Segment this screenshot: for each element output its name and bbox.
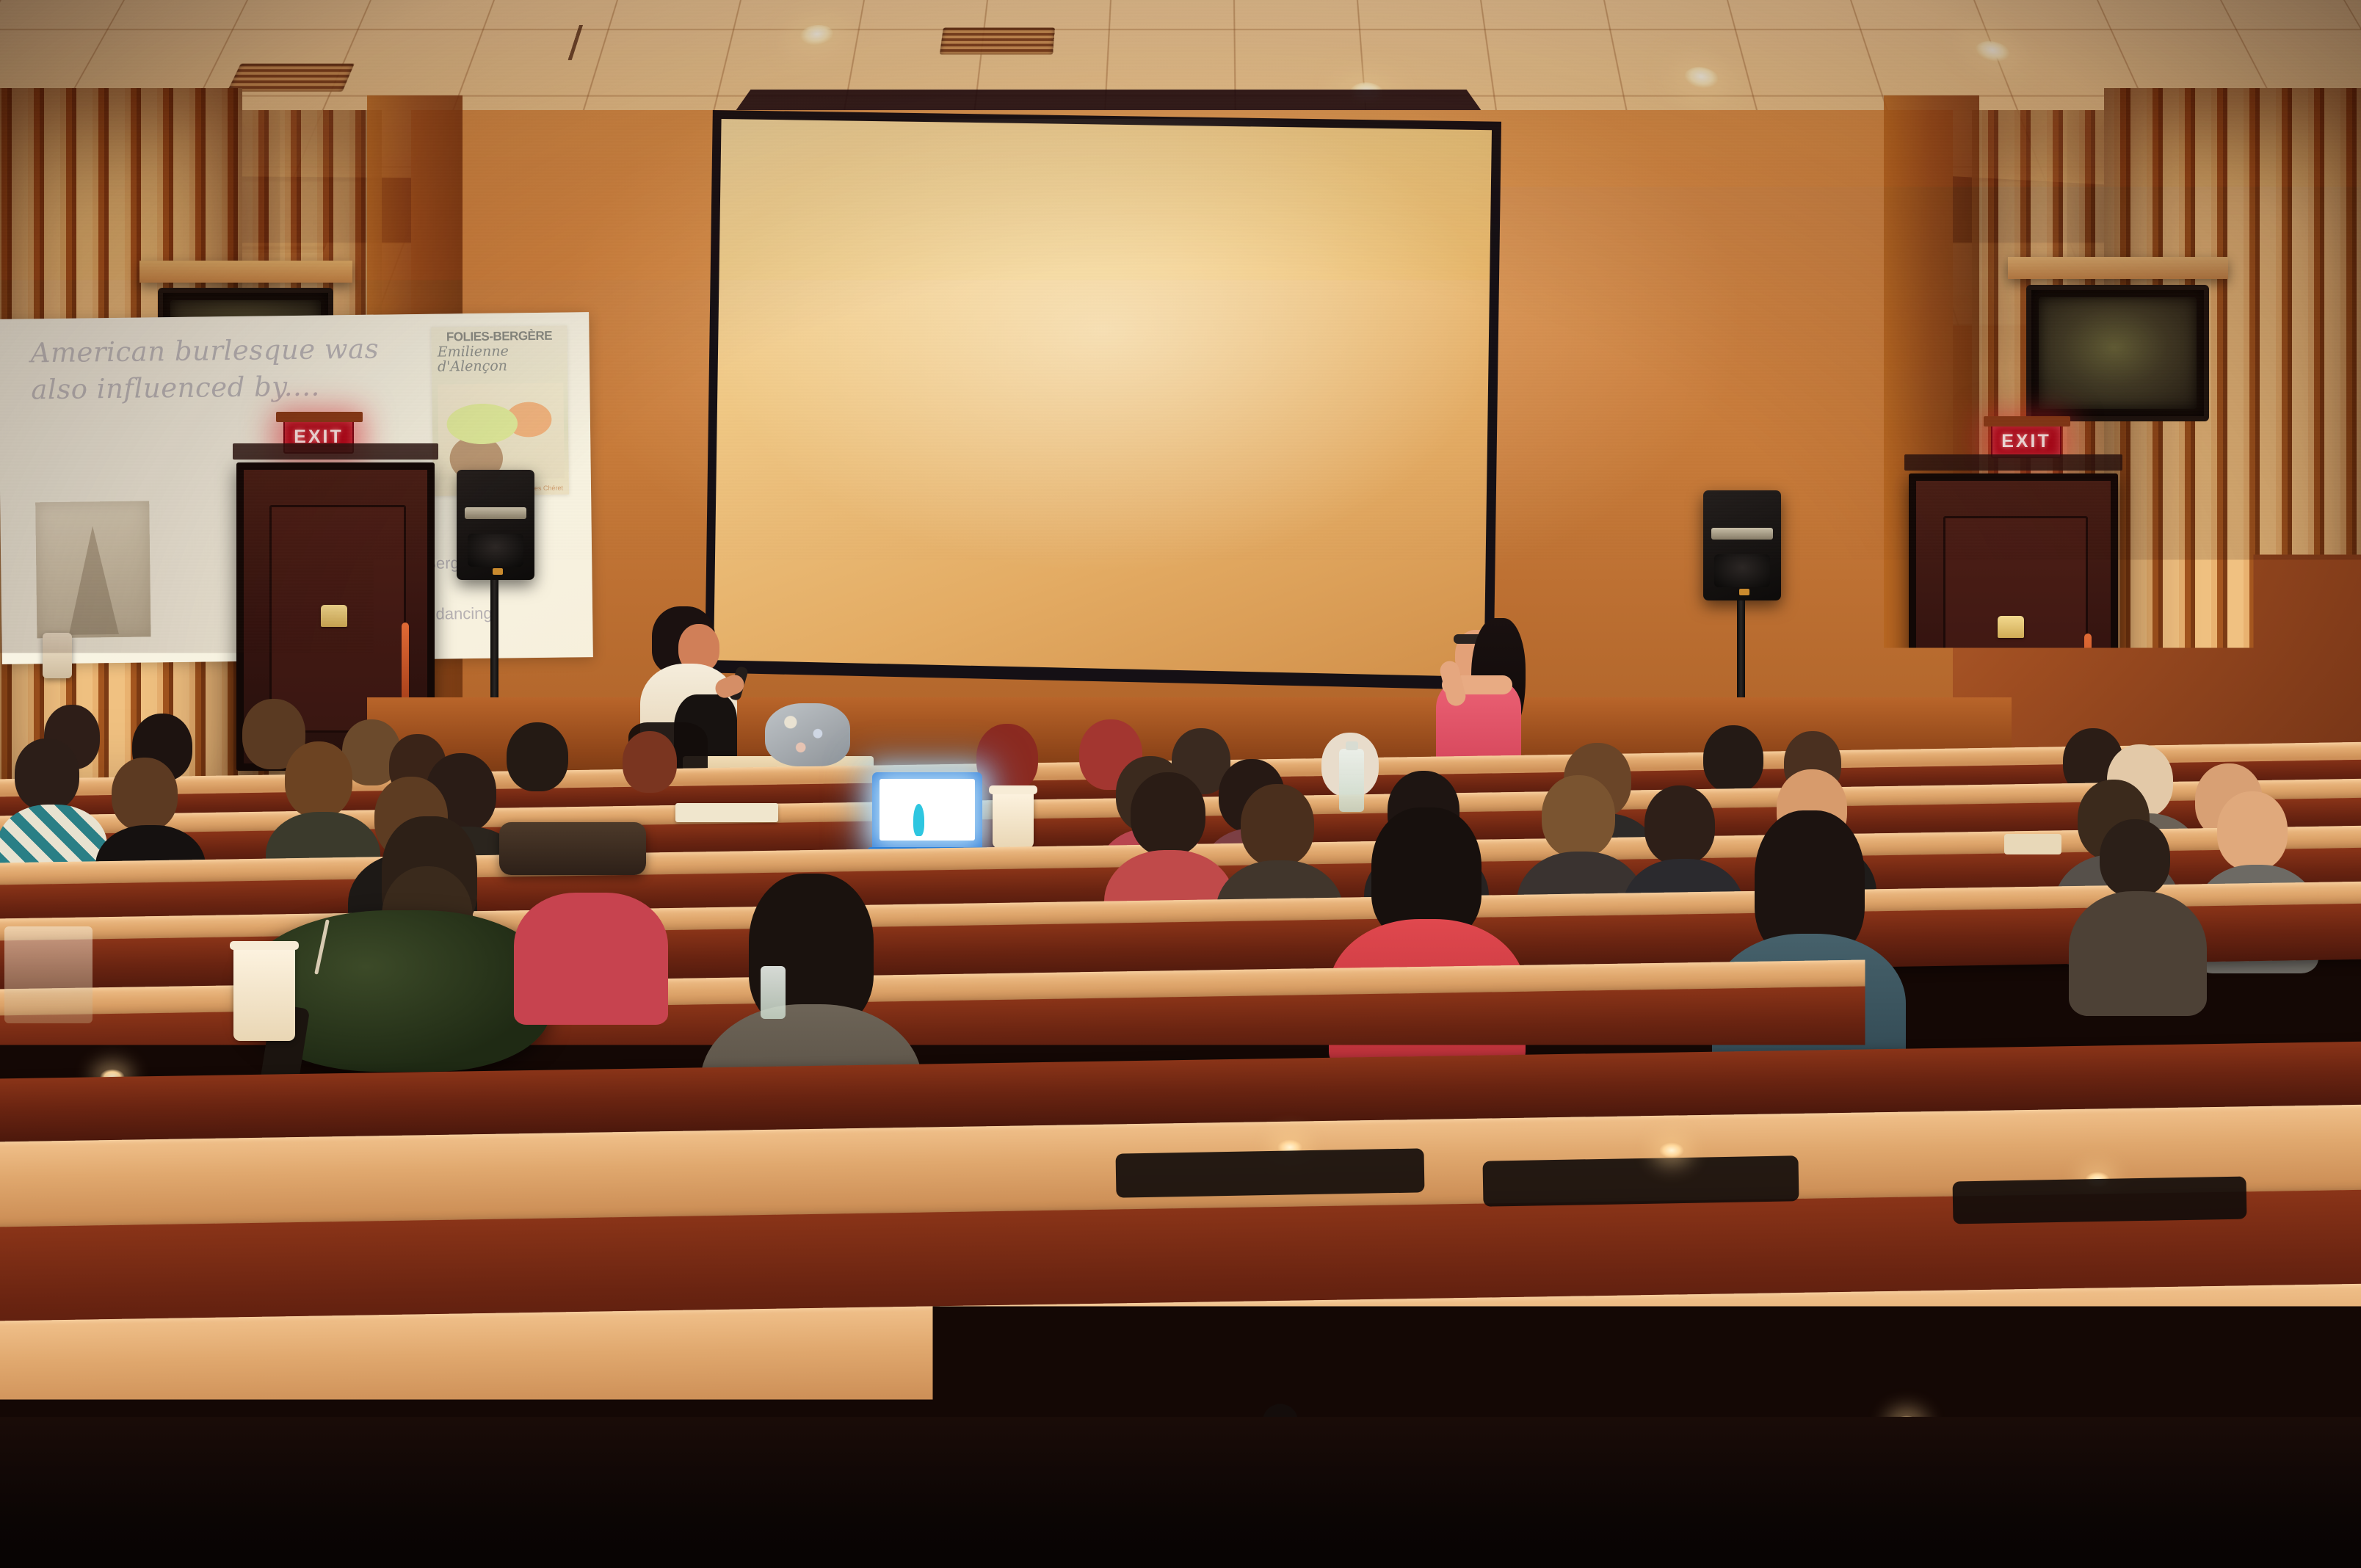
wall-phone[interactable] xyxy=(43,633,72,678)
speaker-badge xyxy=(1739,589,1749,595)
head xyxy=(623,731,677,793)
bottle-cap xyxy=(1346,741,1358,750)
laptop-display-icon xyxy=(913,804,924,836)
head xyxy=(976,724,1038,793)
drink-cup xyxy=(993,791,1034,849)
ceiling-vent xyxy=(940,28,1055,55)
head xyxy=(507,722,568,791)
snack-wrapper xyxy=(2004,834,2061,854)
head xyxy=(1131,772,1205,856)
speaker-woofer xyxy=(468,534,523,567)
head xyxy=(1241,784,1314,866)
photographer-watermark: © Photogenic Theatron - P. Crandall Polk xyxy=(21,1476,875,1543)
poster-title-line1: FOLIES-BERGÈRE xyxy=(435,329,562,345)
pa-speaker-right xyxy=(1703,490,1781,600)
sequined-bag xyxy=(765,703,850,766)
speaker-horn xyxy=(465,507,527,519)
ceiling-vent xyxy=(227,64,355,92)
seat-cushion xyxy=(1116,1148,1425,1197)
laptop-display xyxy=(880,779,975,841)
head xyxy=(2217,791,2288,871)
slide-title: American burlesque was also influenced b… xyxy=(30,330,413,408)
drink-cup xyxy=(233,947,295,1041)
head xyxy=(1703,725,1763,793)
head xyxy=(1542,775,1615,857)
poster-title-line2: Emilienne d'Alençon xyxy=(438,343,567,374)
door-transom xyxy=(1904,454,2122,471)
door-plaque xyxy=(321,605,347,627)
laptop-screen[interactable] xyxy=(872,772,982,852)
head xyxy=(1644,785,1715,865)
cup-lid xyxy=(230,941,299,950)
door-push-bar[interactable] xyxy=(402,623,409,703)
alcove-left xyxy=(139,261,352,283)
head xyxy=(112,758,178,831)
seat-cushion xyxy=(1953,1177,2247,1224)
door-transom xyxy=(233,443,438,460)
water-bottle xyxy=(761,966,786,1019)
auditorium-photo: American burlesque was also influenced b… xyxy=(0,0,2361,1568)
seat-cushion xyxy=(1482,1155,1799,1206)
torso xyxy=(514,893,668,1025)
speaker-woofer xyxy=(1714,554,1770,587)
slide-photo-left xyxy=(35,501,150,638)
glassware xyxy=(4,926,93,1023)
jacket-on-bench xyxy=(499,822,646,875)
exit-sign-hood xyxy=(1984,416,2070,427)
speaker-badge xyxy=(493,568,503,575)
alcove-right xyxy=(2008,257,2228,279)
speaker-horn xyxy=(1711,528,1774,540)
cup-lid xyxy=(989,785,1037,794)
aisle-step-light xyxy=(1659,1142,1684,1158)
head xyxy=(2100,819,2170,897)
door-push-bar[interactable] xyxy=(2084,634,2092,714)
door-plaque xyxy=(1998,616,2024,638)
wall-monitor-screen xyxy=(2039,297,2197,409)
wall-monitor-right xyxy=(2026,285,2209,421)
projection-screen xyxy=(714,119,1492,677)
poster-artwork xyxy=(438,383,565,480)
pa-speaker-left xyxy=(457,470,534,580)
head xyxy=(285,741,352,818)
exit-sign-right: EXIT xyxy=(1991,424,2061,458)
exit-sign-hood xyxy=(276,412,363,422)
paper-stack xyxy=(675,803,778,822)
water-bottle xyxy=(1339,749,1364,812)
head xyxy=(15,738,79,810)
exit-sign-label: EXIT xyxy=(2001,432,2051,451)
